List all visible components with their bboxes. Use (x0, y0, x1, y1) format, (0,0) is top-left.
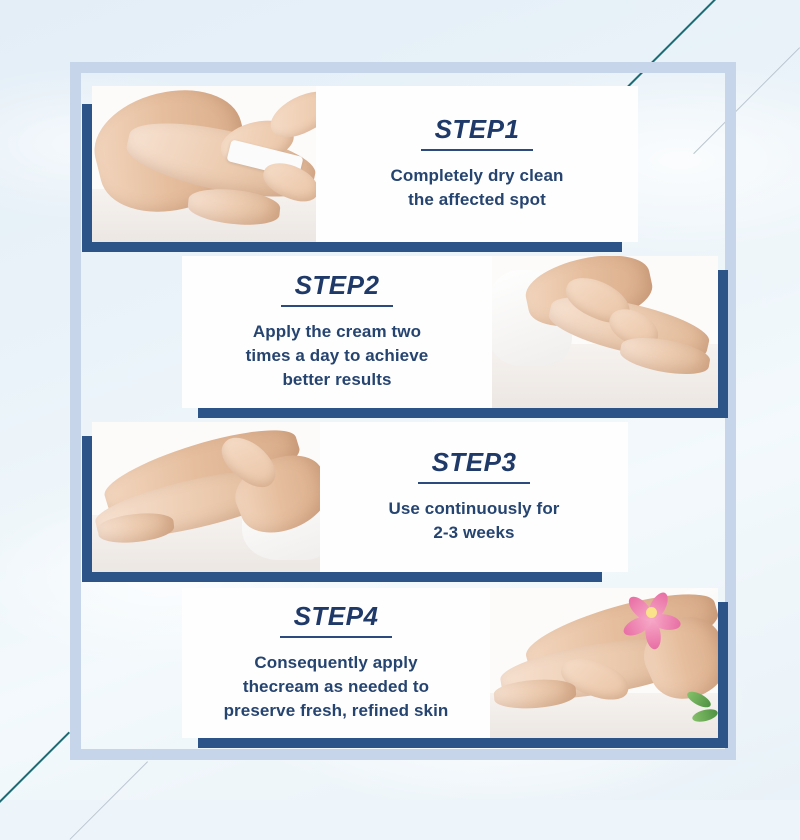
step-title-1: STEP1 (421, 116, 534, 151)
step-description-4-line-2: thecream as needed to (224, 675, 449, 699)
step-image-4 (490, 588, 718, 738)
step-description-4: Consequently apply thecream as needed to… (224, 651, 449, 723)
step-description-4-line-3: preserve fresh, refined skin (224, 699, 449, 723)
step-text-panel-4: STEP4 Consequently apply thecream as nee… (182, 588, 490, 738)
step-description-3-line-2: 2-3 weeks (388, 521, 559, 545)
step-description-3-line-1: Use continuously for (388, 497, 559, 521)
accent-bar-right-step-4 (718, 602, 728, 748)
step-card-1[interactable]: STEP1 Completely dry clean the affected … (92, 86, 638, 242)
step-description-2: Apply the cream two times a day to achie… (246, 320, 429, 392)
lily-center (646, 607, 657, 618)
step-text-panel-1: STEP1 Completely dry clean the affected … (316, 86, 638, 242)
step-description-2-line-2: times a day to achieve (246, 344, 429, 368)
accent-bar-bottom-step-3 (82, 572, 602, 582)
step-description-2-line-3: better results (246, 368, 429, 392)
lily-flower-icon (622, 588, 680, 638)
step-card-3[interactable]: STEP3 Use continuously for 2-3 weeks (92, 422, 628, 572)
step-row-2: STEP2 Apply the cream two times a day to… (182, 256, 728, 418)
accent-bar-bottom-step-4 (198, 738, 728, 748)
accent-bar-left-step-3 (82, 436, 92, 582)
step-text-panel-2: STEP2 Apply the cream two times a day to… (182, 256, 492, 408)
accent-bar-left-step-1 (82, 104, 92, 252)
step-text-panel-3: STEP3 Use continuously for 2-3 weeks (320, 422, 628, 572)
step-row-1: STEP1 Completely dry clean the affected … (82, 86, 638, 252)
step-title-2: STEP2 (281, 272, 394, 307)
accent-bar-bottom-step-1 (82, 242, 622, 252)
step-image-1 (92, 86, 316, 242)
step-image-3 (92, 422, 320, 572)
step-title-3: STEP3 (418, 449, 531, 484)
step-description-1-line-1: Completely dry clean (390, 164, 563, 188)
step-row-4: STEP4 Consequently apply thecream as nee… (182, 588, 728, 748)
step-description-1: Completely dry clean the affected spot (390, 164, 563, 212)
accent-bar-right-step-2 (718, 270, 728, 418)
step-title-4: STEP4 (280, 603, 393, 638)
step-description-4-line-1: Consequently apply (224, 651, 449, 675)
step-description-1-line-2: the affected spot (390, 188, 563, 212)
step-card-4[interactable]: STEP4 Consequently apply thecream as nee… (182, 588, 718, 738)
accent-bar-bottom-step-2 (198, 408, 728, 418)
step-card-2[interactable]: STEP2 Apply the cream two times a day to… (182, 256, 718, 408)
step-row-3: STEP3 Use continuously for 2-3 weeks (82, 422, 628, 582)
step-description-2-line-1: Apply the cream two (246, 320, 429, 344)
step-image-2 (492, 256, 718, 408)
step-description-3: Use continuously for 2-3 weeks (388, 497, 559, 545)
